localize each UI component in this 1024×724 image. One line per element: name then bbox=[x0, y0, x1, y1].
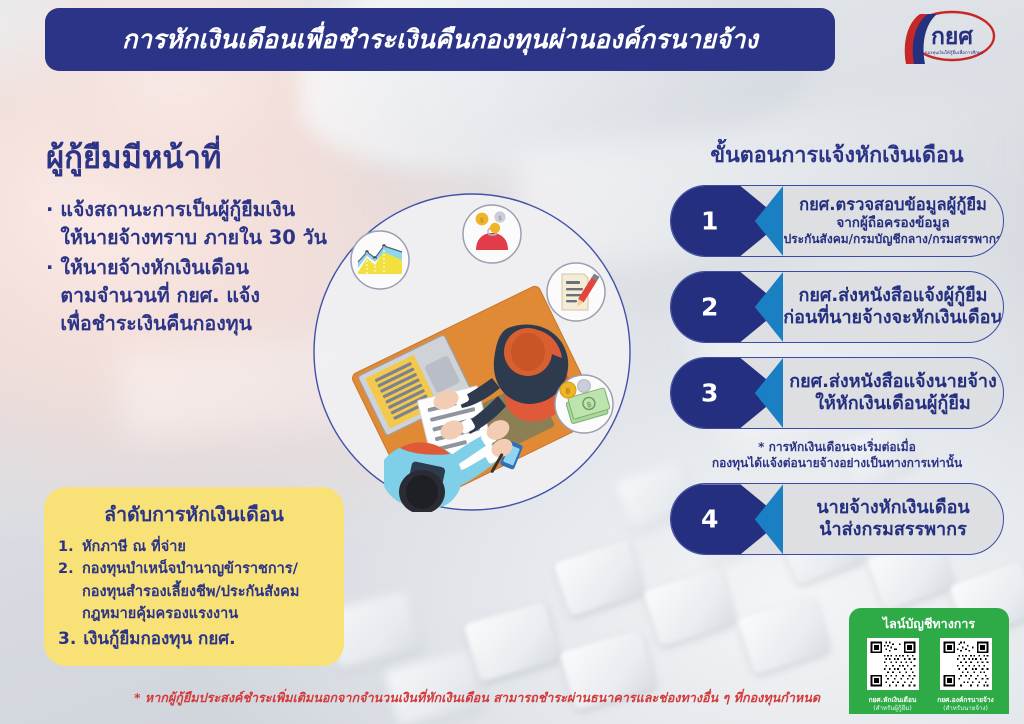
step-line-2: ก่อนที่นายจ้างจะหักเงินเดือน bbox=[783, 307, 1002, 330]
cash-money-icon: ฿ ฿ bbox=[555, 375, 613, 433]
order-text: หักภาษี ณ ที่จ่าย bbox=[82, 536, 186, 558]
step-body: กยศ.ตรวจสอบข้อมูลผู้กู้ยืม จากผู้ถือครอง… bbox=[783, 186, 1003, 256]
coin-purse-icon: $ $ bbox=[463, 205, 521, 263]
order-text: เงินกู้ยืมกองทุน กยศ. bbox=[83, 626, 235, 652]
step-line-3: ประกันสังคม/กรมบัญชีกลาง/กรมสรรพากร bbox=[784, 232, 1003, 247]
deduction-order-box: ลำดับการหักเงินเดือน 1. หักภาษี ณ ที่จ่า… bbox=[44, 487, 344, 666]
duties-heading: ผู้กู้ยืมมีหน้าที่ bbox=[46, 132, 346, 182]
deduction-order-title: ลำดับการหักเงินเดือน bbox=[58, 499, 330, 530]
svg-text:กองทุนเงินให้กู้ยืมเพื่อการศึก: กองทุนเงินให้กู้ยืมเพื่อการศึกษา bbox=[925, 49, 984, 56]
step-body: กยศ.ส่งหนังสือแจ้งนายจ้าง ให้หักเงินเดือ… bbox=[783, 358, 1003, 428]
bullet-icon: · bbox=[46, 254, 53, 337]
bullet-icon: · bbox=[46, 196, 53, 251]
step-line-1: กยศ.ส่งหนังสือแจ้งผู้กู้ยืม bbox=[798, 285, 987, 307]
office-meeting-topdown-illustration: $ $ ฿ ฿ bbox=[312, 192, 632, 512]
order-number: 2. bbox=[58, 558, 75, 625]
svg-text:$: $ bbox=[498, 215, 502, 222]
order-item: 1. หักภาษี ณ ที่จ่าย bbox=[58, 536, 330, 558]
order-line: กองทุนบำเหน็จบำนาญข้าราชการ/ bbox=[82, 558, 299, 580]
step-line-1: นายจ้างหักเงินเดือน bbox=[816, 497, 969, 519]
step-line-2: นำส่งกรมสรรพากร bbox=[819, 519, 966, 542]
borrower-duties-section: ผู้กู้ยืมมีหน้าที่ · แจ้งสถานะการเป็นผู้… bbox=[46, 132, 346, 340]
chart-icon bbox=[351, 231, 409, 289]
document-pencil-icon bbox=[547, 263, 605, 321]
step-body: กยศ.ส่งหนังสือแจ้งผู้กู้ยืม ก่อนที่นายจ้… bbox=[783, 272, 1003, 342]
step-note-line: * การหักเงินเดือนจะเริ่มต่อเมื่อ bbox=[670, 439, 1004, 455]
order-line: เงินกู้ยืมกองทุน กยศ. bbox=[83, 626, 235, 652]
step-number: 3 bbox=[701, 379, 718, 408]
step-item-3[interactable]: 3 กยศ.ส่งหนังสือแจ้งนายจ้าง ให้หักเงินเด… bbox=[670, 357, 1004, 429]
order-line: หักภาษี ณ ที่จ่าย bbox=[82, 536, 186, 558]
svg-text:$: $ bbox=[480, 216, 484, 224]
step-item-4[interactable]: 4 นายจ้างหักเงินเดือน นำส่งกรมสรรพากร bbox=[670, 483, 1004, 555]
step-body: นายจ้างหักเงินเดือน นำส่งกรมสรรพากร bbox=[783, 484, 1003, 554]
notification-steps-section: ขั้นตอนการแจ้งหักเงินเดือน 1 กยศ.ตรวจสอบ… bbox=[670, 138, 1004, 569]
svg-text:฿: ฿ bbox=[565, 387, 570, 396]
order-text: กองทุนบำเหน็จบำนาญข้าราชการ/ กองทุนสำรอง… bbox=[82, 558, 299, 625]
duty-text: ให้นายจ้างหักเงินเดือน ตามจำนวนที่ กยศ. … bbox=[60, 254, 259, 337]
duty-line: เพื่อชำระเงินคืนกองทุน bbox=[60, 310, 259, 338]
duty-item: · แจ้งสถานะการเป็นผู้กู้ยืมเงิน ให้นายจ้… bbox=[46, 196, 346, 251]
order-line: กฎหมายคุ้มครองแรงงาน bbox=[82, 603, 299, 625]
step-number: 1 bbox=[701, 207, 718, 236]
step-note: * การหักเงินเดือนจะเริ่มต่อเมื่อ กองทุนไ… bbox=[670, 439, 1004, 471]
step-line-1: กยศ.ส่งหนังสือแจ้งนายจ้าง bbox=[789, 371, 997, 393]
order-number: 1. bbox=[58, 536, 75, 558]
order-item: 3. เงินกู้ยืมกองทุน กยศ. bbox=[58, 626, 330, 652]
footnote: * หากผู้กู้ยืมประสงค์ชำระเพิ่มเติมนอกจาก… bbox=[0, 688, 1024, 708]
step-number: 2 bbox=[701, 293, 718, 322]
order-number: 3. bbox=[58, 626, 76, 652]
order-line: กองทุนสำรองเลี้ยงชีพ/ประกันสังคม bbox=[82, 581, 299, 603]
page-title: การหักเงินเดือนเพื่อชำระเงินคืนกองทุนผ่า… bbox=[122, 20, 758, 60]
line-box-title: ไลน์บัญชีทางการ bbox=[857, 614, 1001, 634]
step-item-1[interactable]: 1 กยศ.ตรวจสอบข้อมูลผู้กู้ยืม จากผู้ถือคร… bbox=[670, 185, 1004, 257]
step-line-2: ให้หักเงินเดือนผู้กู้ยืม bbox=[815, 393, 970, 416]
order-item: 2. กองทุนบำเหน็จบำนาญข้าราชการ/ กองทุนสำ… bbox=[58, 558, 330, 625]
step-line-2: จากผู้ถือครองข้อมูล bbox=[836, 215, 949, 232]
kyt-logo: กยศ กองทุนเงินให้กู้ยืมเพื่อการศึกษา bbox=[890, 6, 1002, 70]
qr-code-image[interactable] bbox=[867, 638, 919, 690]
step-note-line: กองทุนได้แจ้งต่อนายจ้างอย่างเป็นทางการเท… bbox=[670, 455, 1004, 471]
step-number: 4 bbox=[701, 505, 718, 534]
duty-line: ให้นายจ้างหักเงินเดือน bbox=[60, 254, 259, 282]
steps-heading: ขั้นตอนการแจ้งหักเงินเดือน bbox=[670, 138, 1004, 172]
step-line-1: กยศ.ตรวจสอบข้อมูลผู้กู้ยืม bbox=[799, 195, 987, 215]
logo-text: กยศ bbox=[931, 24, 973, 50]
duty-line: ให้นายจ้างทราบ ภายใน 30 วัน bbox=[60, 224, 327, 252]
duty-item: · ให้นายจ้างหักเงินเดือน ตามจำนวนที่ กยศ… bbox=[46, 254, 346, 337]
duty-text: แจ้งสถานะการเป็นผู้กู้ยืมเงิน ให้นายจ้าง… bbox=[60, 196, 327, 251]
duty-line: ตามจำนวนที่ กยศ. แจ้ง bbox=[60, 282, 259, 310]
duty-line: แจ้งสถานะการเป็นผู้กู้ยืมเงิน bbox=[60, 196, 327, 224]
header-bar: การหักเงินเดือนเพื่อชำระเงินคืนกองทุนผ่า… bbox=[45, 8, 835, 71]
step-item-2[interactable]: 2 กยศ.ส่งหนังสือแจ้งผู้กู้ยืม ก่อนที่นาย… bbox=[670, 271, 1004, 343]
qr-code-image[interactable] bbox=[940, 638, 992, 690]
